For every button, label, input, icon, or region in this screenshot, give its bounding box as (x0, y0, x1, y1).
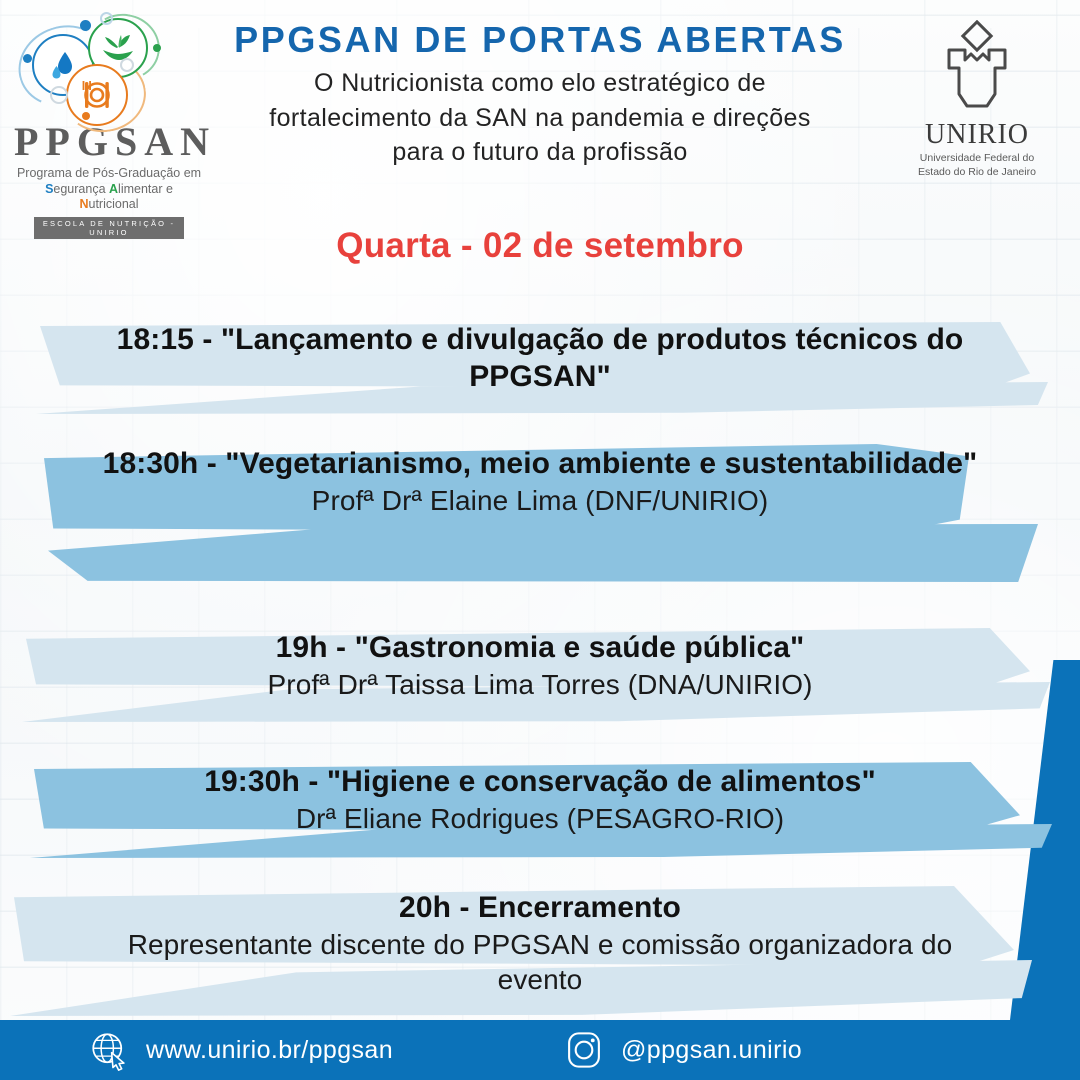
schedule-item-speaker: Drª Eliane Rodrigues (PESAGRO-RIO) (90, 801, 990, 837)
page-subtitle-line3: para o futuro da profissão (195, 135, 885, 170)
schedule-item-title: 19:30h - "Higiene e conservação de alime… (90, 764, 990, 801)
schedule-item-title: 18:30h - "Vegetarianismo, meio ambiente … (90, 446, 990, 483)
dot-decoration (153, 44, 161, 52)
unirio-emblem-icon (929, 20, 1025, 120)
plate-cutlery-icon (66, 64, 128, 126)
poster-footer: www.unirio.br/ppgsan @ppgsan.unirio (0, 1020, 1080, 1080)
website-label: www.unirio.br/ppgsan (146, 1036, 393, 1065)
unirio-subtitle: Universidade Federal do Estado do Rio de… (902, 152, 1052, 179)
website-link[interactable]: www.unirio.br/ppgsan (88, 1029, 393, 1071)
ppgsan-logo-subtitle: Programa de Pós-Graduação em Segurança A… (14, 166, 204, 213)
schedule-item-title: 20h - Encerramento (90, 890, 990, 927)
instagram-icon (563, 1029, 605, 1071)
dot-decoration (120, 58, 134, 72)
page-title: PPGSAN DE PORTAS ABERTAS (195, 20, 885, 60)
dot-decoration (50, 86, 68, 104)
ppgsan-logo: PPGSAN Programa de Pós-Graduação em Segu… (14, 12, 204, 197)
dot-decoration (23, 54, 32, 63)
dot-decoration (82, 112, 90, 120)
page-subtitle-line2: fortalecimento da SAN na pandemia e dire… (195, 101, 885, 136)
event-poster: PPGSAN Programa de Pós-Graduação em Segu… (0, 0, 1080, 1080)
page-subtitle-line1: O Nutricionista como elo estratégico de (195, 66, 885, 101)
brush-stroke (48, 524, 1038, 582)
dot-decoration (100, 12, 113, 25)
poster-header: PPGSAN Programa de Pós-Graduação em Segu… (0, 0, 1080, 205)
instagram-label: @ppgsan.unirio (621, 1036, 802, 1065)
schedule-item: 18:30h - "Vegetarianismo, meio ambiente … (0, 432, 1080, 606)
unirio-subtitle-line1: Universidade Federal do (902, 152, 1052, 166)
schedule-item-title: 19h - "Gastronomia e saúde pública" (90, 630, 990, 667)
schedule-item: 20h - Encerramento Representante discent… (0, 876, 1080, 1026)
unirio-logo: UNIRIO Universidade Federal do Estado do… (902, 20, 1052, 179)
unirio-subtitle-line2: Estado do Rio de Janeiro (902, 166, 1052, 180)
schedule-item: 19h - "Gastronomia e saúde pública" Prof… (0, 618, 1080, 740)
dot-decoration (80, 20, 91, 31)
unirio-wordmark: UNIRIO (902, 121, 1052, 149)
ppgsan-logo-icons (14, 12, 204, 120)
schedule-item-title: 18:15 - "Lançamento e divulgação de prod… (90, 322, 990, 395)
instagram-link[interactable]: @ppgsan.unirio (563, 1029, 802, 1071)
schedule-item-speaker: Representante discente do PPGSAN e comis… (90, 927, 990, 999)
ppgsan-logo-subtitle-line2: Segurança Alimentar e Nutricional (14, 182, 204, 213)
schedule-list: 18:15 - "Lançamento e divulgação de prod… (0, 306, 1080, 1026)
page-subtitle: O Nutricionista como elo estratégico de … (195, 66, 885, 170)
schedule-item-speaker: Profª Drª Elaine Lima (DNF/UNIRIO) (90, 483, 990, 519)
schedule-item-speaker: Profª Drª Taissa Lima Torres (DNA/UNIRIO… (90, 667, 990, 703)
ppgsan-logo-subtitle-line1: Programa de Pós-Graduação em (14, 166, 204, 182)
globe-cursor-icon (88, 1029, 130, 1071)
schedule-item: 19:30h - "Higiene e conservação de alime… (0, 750, 1080, 868)
event-date: Quarta - 02 de setembro (0, 226, 1080, 266)
schedule-item: 18:15 - "Lançamento e divulgação de prod… (0, 306, 1080, 424)
